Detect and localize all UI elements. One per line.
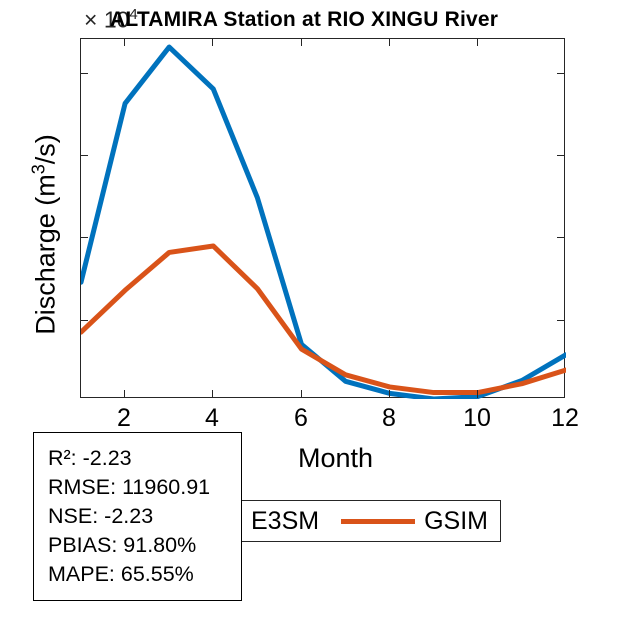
chart-figure: × 104 ALTAMIRA Station at RIO XINGU Rive… bbox=[0, 0, 625, 625]
x-tick-label-12: 12 bbox=[535, 404, 595, 433]
plot-canvas bbox=[81, 39, 566, 399]
stat-r2: R²: -2.23 bbox=[48, 444, 241, 473]
x-tick-mark bbox=[124, 390, 125, 398]
x-tick-mark bbox=[124, 38, 125, 46]
y-tick-mark bbox=[80, 320, 88, 321]
legend-swatch-gsim bbox=[341, 519, 415, 524]
x-tick-mark bbox=[477, 38, 478, 46]
x-tick-label-10: 10 bbox=[447, 404, 507, 433]
x-tick-mark bbox=[301, 390, 302, 398]
legend-label-gsim: GSIM bbox=[424, 509, 488, 534]
y-axis-label-base: Discharge (m bbox=[31, 174, 61, 335]
x-tick-label-8: 8 bbox=[359, 404, 419, 433]
x-tick-mark bbox=[212, 38, 213, 46]
y-tick-mark bbox=[557, 155, 565, 156]
legend-label-e3sm: E3SM bbox=[251, 509, 319, 534]
series-line-e3sm bbox=[81, 47, 566, 399]
y-tick-mark bbox=[80, 155, 88, 156]
stat-rmse: RMSE: 11960.91 bbox=[48, 473, 241, 502]
x-tick-mark bbox=[389, 390, 390, 398]
chart-title: ALTAMIRA Station at RIO XINGU River bbox=[110, 8, 498, 32]
statistics-box: R²: -2.23 RMSE: 11960.91 NSE: -2.23 PBIA… bbox=[33, 432, 242, 601]
y-axis-label-exponent: 3 bbox=[29, 164, 49, 174]
plot-area bbox=[80, 38, 565, 398]
x-tick-mark bbox=[389, 38, 390, 46]
y-tick-mark bbox=[80, 237, 88, 238]
x-tick-label-4: 4 bbox=[182, 404, 242, 433]
y-tick-mark bbox=[557, 320, 565, 321]
y-tick-mark bbox=[80, 73, 88, 74]
x-tick-mark bbox=[477, 390, 478, 398]
stat-mape: MAPE: 65.55% bbox=[48, 560, 241, 589]
y-tick-mark bbox=[557, 237, 565, 238]
legend-entry-gsim[interactable]: GSIM bbox=[341, 509, 488, 534]
series-line-gsim bbox=[81, 246, 566, 393]
y-axis-label-tail: /s) bbox=[31, 134, 61, 164]
y-tick-mark bbox=[557, 73, 565, 74]
x-tick-label-6: 6 bbox=[271, 404, 331, 433]
x-tick-mark bbox=[301, 38, 302, 46]
y-axis-label: Discharge (m3/s) bbox=[29, 55, 62, 415]
stat-nse: NSE: -2.23 bbox=[48, 502, 241, 531]
stat-pbias: PBIAS: 91.80% bbox=[48, 531, 241, 560]
x-tick-label-2: 2 bbox=[94, 404, 154, 433]
chart-legend[interactable]: E3SM GSIM bbox=[222, 500, 501, 542]
legend-entry-e3sm[interactable]: E3SM bbox=[235, 509, 319, 534]
x-tick-mark bbox=[212, 390, 213, 398]
